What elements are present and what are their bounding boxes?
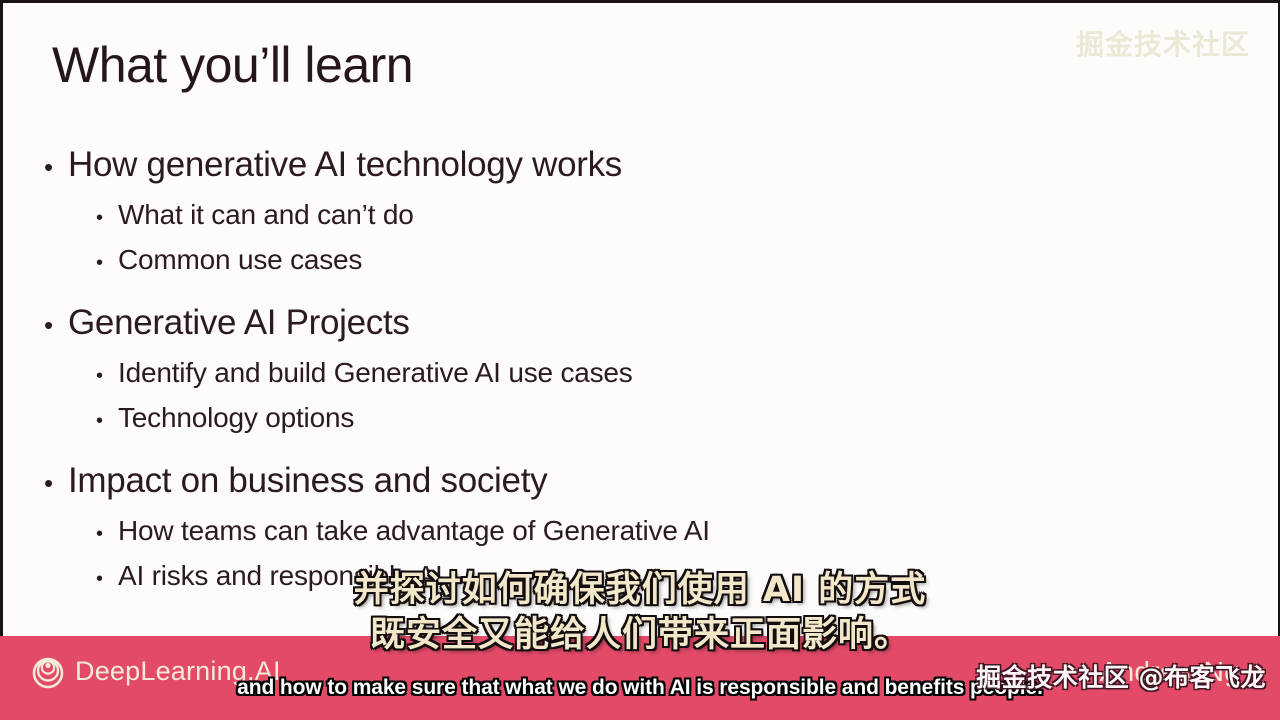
bullet-level2-label: Identify and build Generative AI use cas… bbox=[118, 352, 633, 394]
bullet-level1: • Impact on business and society bbox=[44, 456, 1044, 508]
bullet-dot-icon: • bbox=[96, 197, 118, 239]
bullet-level2-label: Technology options bbox=[118, 397, 354, 439]
bullet-group: • How generative AI technology works • W… bbox=[44, 140, 1044, 284]
watermark-top-right: 掘金技术社区 bbox=[1076, 28, 1250, 62]
bullet-level1-label: Impact on business and society bbox=[68, 456, 547, 506]
bullet-level1: • How generative AI technology works bbox=[44, 140, 1044, 192]
bullet-dot-icon: • bbox=[96, 513, 118, 555]
bullet-dot-icon: • bbox=[96, 355, 118, 397]
bullet-dot-icon: • bbox=[44, 300, 68, 350]
bullet-level1-label: Generative AI Projects bbox=[68, 298, 410, 348]
bullet-level1: • Generative AI Projects bbox=[44, 298, 1044, 350]
letterbox-edge-left bbox=[0, 0, 3, 636]
bullet-level2-label: How teams can take advantage of Generati… bbox=[118, 510, 710, 552]
bullet-level1-label: How generative AI technology works bbox=[68, 140, 622, 190]
bullet-dot-icon: • bbox=[96, 242, 118, 284]
bullet-level2: • Common use cases bbox=[96, 239, 1044, 284]
bullet-level2: • Identify and build Generative AI use c… bbox=[96, 352, 1044, 397]
watermark-bottom-right: 掘金技术社区 @布客飞龙 bbox=[976, 662, 1266, 694]
letterbox-edge-top bbox=[0, 0, 1280, 3]
bullet-level2-label: What it can and can’t do bbox=[118, 194, 414, 236]
bullet-list: • How generative AI technology works • W… bbox=[44, 140, 1044, 614]
bullet-dot-icon: • bbox=[44, 142, 68, 192]
bullet-dot-icon: • bbox=[44, 458, 68, 508]
presentation-slide: 掘金技术社区 What you’ll learn • How generativ… bbox=[0, 0, 1280, 720]
bullet-level2: • Technology options bbox=[96, 397, 1044, 442]
subtitle-chinese-line-2: 既安全又能给人们带来正面影响。 bbox=[0, 613, 1280, 658]
bullet-level2: • What it can and can’t do bbox=[96, 194, 1044, 239]
bullet-level2-label: Common use cases bbox=[118, 239, 362, 281]
slide-title: What you’ll learn bbox=[52, 32, 413, 98]
bullet-level2: • How teams can take advantage of Genera… bbox=[96, 510, 1044, 555]
bullet-group: • Generative AI Projects • Identify and … bbox=[44, 298, 1044, 442]
bullet-dot-icon: • bbox=[96, 400, 118, 442]
subtitle-chinese-line-1: 并探讨如何确保我们使用 AI 的方式 bbox=[0, 568, 1280, 613]
subtitle-chinese: 并探讨如何确保我们使用 AI 的方式 既安全又能给人们带来正面影响。 bbox=[0, 568, 1280, 658]
